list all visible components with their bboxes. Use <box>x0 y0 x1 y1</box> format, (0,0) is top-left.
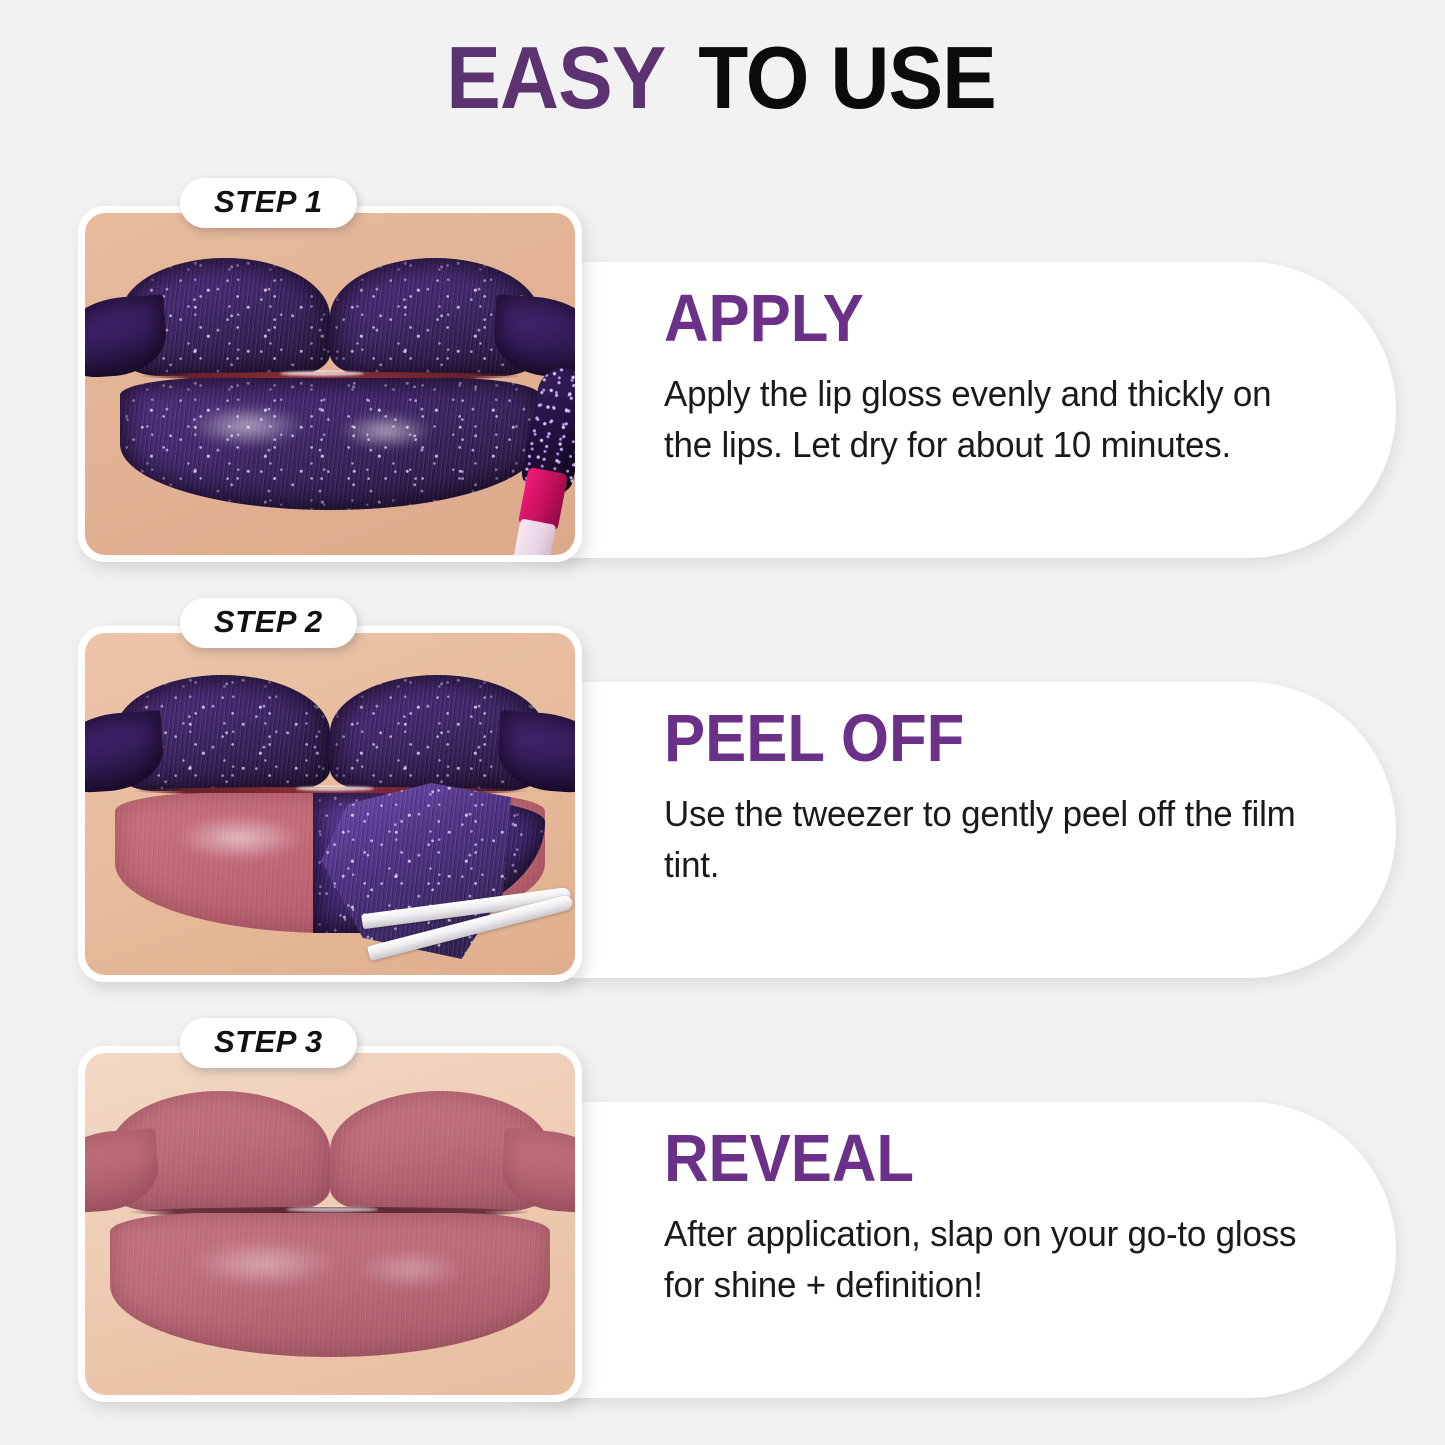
step-heading-1: APPLY <box>664 284 1273 354</box>
step-heading-3: REVEAL <box>664 1124 1273 1194</box>
step-photo-card-2 <box>78 626 582 982</box>
mouth-shine <box>280 371 364 376</box>
lips-photo-purple-film <box>85 213 575 555</box>
lips-illustration <box>110 1091 550 1357</box>
step-row-3: REVEAL After application, slap on your g… <box>0 1036 1445 1412</box>
lips-illustration <box>120 258 540 510</box>
step-badge-1: STEP 1 <box>180 178 357 228</box>
step-row-2: PEEL OFF Use the tweezer to gently peel … <box>0 616 1445 992</box>
step-body-2: Use the tweezer to gently peel off the f… <box>664 788 1306 890</box>
step-row-1: APPLY Apply the lip gloss evenly and thi… <box>0 196 1445 572</box>
upper-lip <box>110 1091 550 1211</box>
step-badge-2: STEP 2 <box>180 598 357 648</box>
step-body-1: Apply the lip gloss evenly and thickly o… <box>664 368 1306 470</box>
lip-highlight <box>189 1239 339 1289</box>
lip-highlight <box>356 1248 466 1290</box>
step-photo-card-1 <box>78 206 582 562</box>
lip-edge-shadow <box>120 378 540 510</box>
upper-lip <box>120 258 540 376</box>
page-title-highlight: EASY <box>446 34 665 122</box>
step-heading-2: PEEL OFF <box>664 704 1273 774</box>
lower-lip <box>110 1213 550 1357</box>
step-body-3: After application, slap on your go-to gl… <box>664 1208 1306 1310</box>
page-title-rest: TO USE <box>699 34 997 122</box>
step-badge-label-3: STEP 3 <box>214 1025 323 1059</box>
step-badge-label-1: STEP 1 <box>214 185 323 219</box>
mouth-shine <box>286 1207 378 1212</box>
lips-photo-final <box>85 1053 575 1395</box>
upper-lip <box>115 675 545 791</box>
step-badge-label-2: STEP 2 <box>214 605 323 639</box>
lower-lip <box>120 378 540 510</box>
step-badge-3: STEP 3 <box>180 1018 357 1068</box>
step-photo-card-3 <box>78 1046 582 1402</box>
mouth-shine <box>296 786 374 791</box>
page-title: EASYTO USE <box>0 34 1445 122</box>
wand-handle <box>512 518 556 555</box>
lips-photo-peeling <box>85 633 575 975</box>
